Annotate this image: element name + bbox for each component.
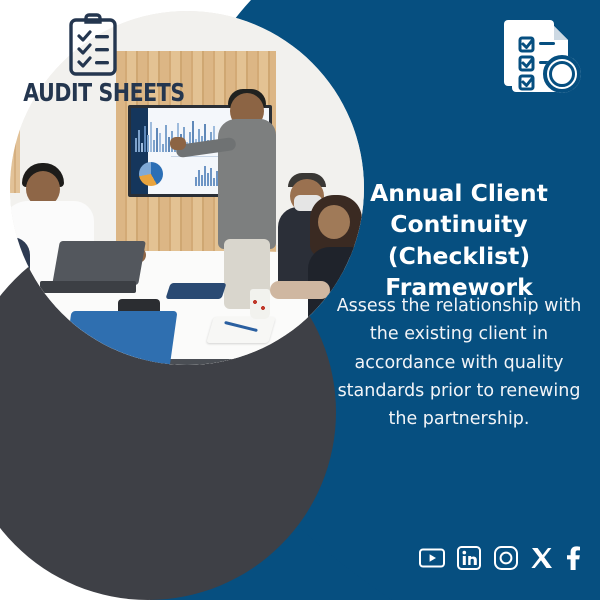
brand-name: AUDIT SHEETS [23, 80, 162, 105]
youtube-icon[interactable] [418, 544, 446, 572]
checklist-document-magnifier-icon [498, 12, 590, 104]
instagram-icon[interactable] [492, 544, 520, 572]
social-links [418, 544, 582, 572]
page-title: Annual Client Continuity (Checklist) Fra… [330, 178, 588, 303]
clipboard-checklist-icon [62, 12, 124, 78]
facebook-icon[interactable] [564, 544, 582, 572]
description-text: Assess the relationship with the existin… [330, 292, 588, 434]
brand-logo: AUDIT SHEETS [8, 12, 178, 105]
x-twitter-icon[interactable] [529, 544, 555, 572]
linkedin-icon[interactable] [455, 544, 483, 572]
poster-canvas: AUDIT SHEETS [0, 0, 600, 600]
